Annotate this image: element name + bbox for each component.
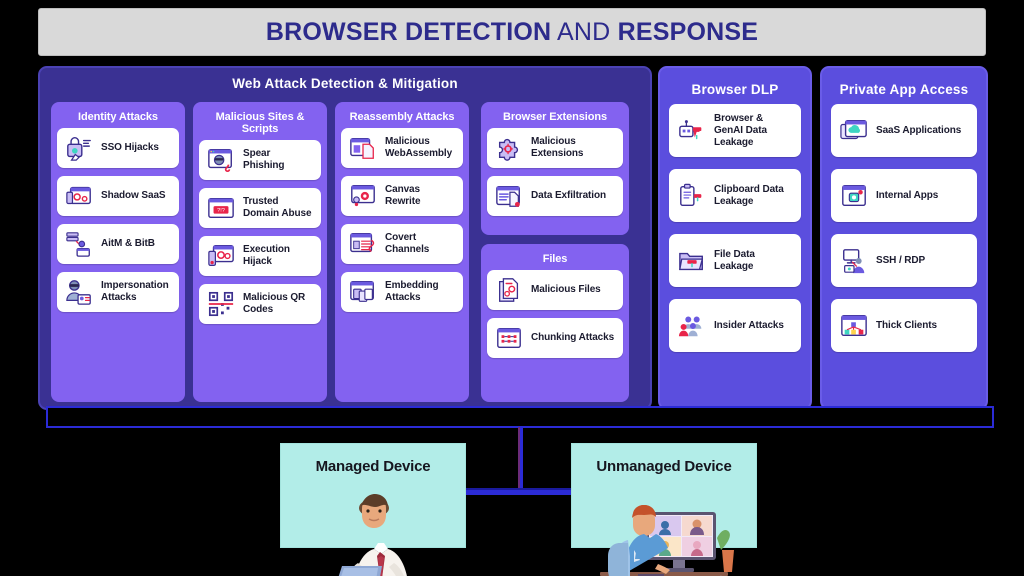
column-header: Malicious Sites & Scripts bbox=[199, 107, 321, 140]
card-label: Browser & GenAI Data Leakage bbox=[714, 113, 793, 149]
card-impersonation-attacks[interactable]: Impersonation Attacks bbox=[57, 272, 179, 312]
card-label: Trusted Domain Abuse bbox=[243, 196, 314, 220]
title-part-1: BROWSER DETECTION bbox=[266, 18, 551, 46]
card-data-exfiltration[interactable]: Data Exfiltration bbox=[487, 176, 623, 216]
card-malicious-qr-codes[interactable]: Malicious QR Codes bbox=[199, 284, 321, 324]
card-label: Spear Phishing bbox=[243, 148, 314, 172]
man-at-laptop-illustration bbox=[281, 478, 467, 576]
card-label: Clipboard Data Leakage bbox=[714, 184, 793, 208]
card-label: Malicious QR Codes bbox=[243, 292, 314, 316]
subpanel-header: Files bbox=[487, 249, 623, 270]
browser-file-icon bbox=[348, 134, 378, 162]
people-group-icon bbox=[677, 312, 707, 340]
masked-person-id-icon bbox=[64, 278, 94, 306]
card-malicious-extensions[interactable]: Malicious Extensions bbox=[487, 128, 623, 168]
managed-device-box: Managed Device bbox=[280, 443, 466, 548]
diagram-canvas: BROWSER DETECTION AND RESPONSE Web Attac… bbox=[0, 0, 1024, 576]
card-label: Canvas Rewrite bbox=[385, 184, 456, 208]
svg-text:?!?: ?!? bbox=[217, 208, 225, 214]
card-file-data-leakage[interactable]: File Data Leakage bbox=[669, 234, 801, 287]
card-execution-hijack[interactable]: Execution Hijack bbox=[199, 236, 321, 276]
card-label: Impersonation Attacks bbox=[101, 280, 172, 304]
private-app-access-panel: Private App Access SaaS Applications bbox=[820, 66, 988, 410]
card-browser-genai-data-leakage[interactable]: Browser & GenAI Data Leakage bbox=[669, 104, 801, 157]
browser-thief-hook-icon bbox=[206, 146, 236, 174]
card-label: Malicious Extensions bbox=[531, 136, 616, 160]
browser-grid-icon bbox=[494, 324, 524, 352]
card-trusted-domain-abuse[interactable]: ?!? Trusted Domain Abuse bbox=[199, 188, 321, 228]
bottom-connector-bar bbox=[46, 406, 994, 428]
subpanel-browser-extensions: Browser Extensions Malicious Extensions bbox=[481, 102, 629, 235]
padlock-hand-icon bbox=[64, 134, 94, 162]
browser-gears-run-icon bbox=[206, 242, 236, 270]
title-part-2: RESPONSE bbox=[618, 18, 759, 46]
browser-network-icon bbox=[839, 312, 869, 340]
card-insider-attacks[interactable]: Insider Attacks bbox=[669, 299, 801, 352]
robot-faucet-icon bbox=[677, 117, 707, 145]
web-attack-panel: Web Attack Detection & Mitigation Identi… bbox=[38, 66, 652, 410]
browser-gear-icon bbox=[348, 182, 378, 210]
column-identity-attacks: Identity Attacks SSO Hijacks bbox=[51, 102, 185, 402]
unmanaged-device-label: Unmanaged Device bbox=[572, 444, 756, 475]
card-ssh-rdp[interactable]: SSH / RDP bbox=[831, 234, 977, 287]
column-header: Identity Attacks bbox=[57, 107, 179, 128]
clipboard-faucet-icon bbox=[677, 182, 707, 210]
card-label: Embedding Attacks bbox=[385, 280, 456, 304]
browser-dlp-card-list: Browser & GenAI Data Leakage Clipboard D… bbox=[669, 104, 801, 364]
card-label: Internal Apps bbox=[876, 190, 938, 202]
managed-device-label: Managed Device bbox=[281, 444, 465, 475]
server-relay-icon bbox=[64, 230, 94, 258]
card-label: File Data Leakage bbox=[714, 249, 793, 273]
card-spear-phishing[interactable]: Spear Phishing bbox=[199, 140, 321, 180]
man-video-call-illustration bbox=[572, 478, 758, 576]
card-canvas-rewrite[interactable]: Canvas Rewrite bbox=[341, 176, 463, 216]
card-shadow-saas[interactable]: Shadow SaaS bbox=[57, 176, 179, 216]
horizontal-connector bbox=[462, 488, 580, 495]
puzzle-bug-icon bbox=[494, 134, 524, 162]
card-malicious-webassembly[interactable]: Malicious WebAssembly bbox=[341, 128, 463, 168]
column-malicious-sites-scripts: Malicious Sites & Scripts Spear Phishing bbox=[193, 102, 327, 402]
card-label: Execution Hijack bbox=[243, 244, 314, 268]
card-label: SaaS Applications bbox=[876, 125, 961, 137]
private-app-card-list: SaaS Applications Internal Apps bbox=[831, 104, 977, 364]
unmanaged-device-box: Unmanaged Device bbox=[571, 443, 757, 548]
browser-dlp-panel: Browser DLP Browser & GenAI Data Leakage bbox=[658, 66, 812, 410]
browser-layers-icon bbox=[348, 278, 378, 306]
page-title: BROWSER DETECTION AND RESPONSE bbox=[266, 18, 758, 47]
card-malicious-files[interactable]: Malicious Files bbox=[487, 270, 623, 310]
subpanel-header: Browser Extensions bbox=[487, 107, 623, 128]
card-aitm-bitb[interactable]: AitM & BitB bbox=[57, 224, 179, 264]
monitor-user-icon bbox=[839, 247, 869, 275]
vertical-connector bbox=[518, 427, 523, 492]
subpanel-files: Files Malicious Files bbox=[481, 244, 629, 402]
page-title-banner: BROWSER DETECTION AND RESPONSE bbox=[38, 8, 986, 56]
card-label: Shadow SaaS bbox=[101, 190, 165, 202]
browser-warning-icon: ?!? bbox=[206, 194, 236, 222]
browser-app-icon bbox=[839, 182, 869, 210]
browser-gears-icon bbox=[64, 182, 94, 210]
qr-code-icon bbox=[206, 290, 236, 318]
card-label: SSO Hijacks bbox=[101, 142, 159, 154]
card-label: Malicious Files bbox=[531, 284, 601, 296]
document-gears-icon bbox=[494, 276, 524, 304]
private-app-access-title: Private App Access bbox=[822, 68, 986, 97]
browser-doc-out-icon bbox=[494, 182, 524, 210]
card-saas-applications[interactable]: SaaS Applications bbox=[831, 104, 977, 157]
web-attack-panel-title: Web Attack Detection & Mitigation bbox=[40, 68, 650, 91]
card-label: Covert Channels bbox=[385, 232, 456, 256]
title-part-conjunction: AND bbox=[551, 18, 617, 46]
card-label: Malicious WebAssembly bbox=[385, 136, 456, 160]
card-thick-clients[interactable]: Thick Clients bbox=[831, 299, 977, 352]
card-internal-apps[interactable]: Internal Apps bbox=[831, 169, 977, 222]
browser-lines-icon bbox=[348, 230, 378, 258]
card-label: Chunking Attacks bbox=[531, 332, 614, 344]
column-reassembly-attacks: Reassembly Attacks Malicious WebAssembly bbox=[335, 102, 469, 402]
browser-dlp-title: Browser DLP bbox=[660, 68, 810, 97]
card-embedding-attacks[interactable]: Embedding Attacks bbox=[341, 272, 463, 312]
column-header: Reassembly Attacks bbox=[341, 107, 463, 128]
browser-cloud-icon bbox=[839, 117, 869, 145]
card-label: SSH / RDP bbox=[876, 255, 925, 267]
card-clipboard-data-leakage[interactable]: Clipboard Data Leakage bbox=[669, 169, 801, 222]
card-label: Data Exfiltration bbox=[531, 190, 606, 202]
card-covert-channels[interactable]: Covert Channels bbox=[341, 224, 463, 264]
card-label: AitM & BitB bbox=[101, 238, 155, 250]
card-label: Thick Clients bbox=[876, 320, 937, 332]
card-sso-hijacks[interactable]: SSO Hijacks bbox=[57, 128, 179, 168]
folder-faucet-icon bbox=[677, 247, 707, 275]
card-chunking-attacks[interactable]: Chunking Attacks bbox=[487, 318, 623, 358]
card-label: Insider Attacks bbox=[714, 320, 784, 332]
